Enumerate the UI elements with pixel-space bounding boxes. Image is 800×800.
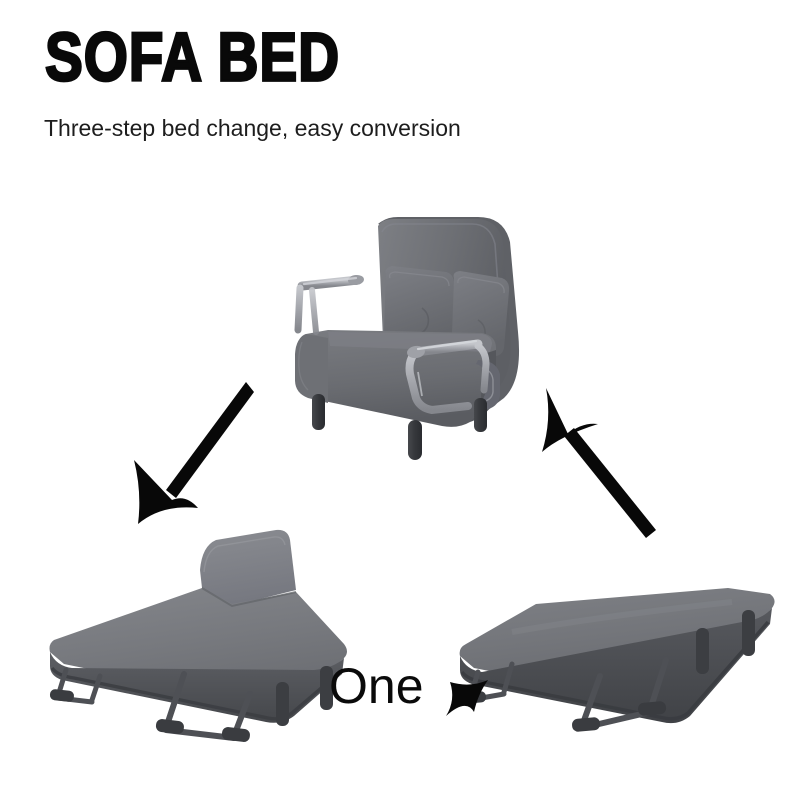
arrow-right-shaft bbox=[564, 428, 656, 538]
arrow-left-shaft bbox=[166, 382, 254, 498]
infographic-canvas: SOFA BED Three-step bed change, easy con… bbox=[0, 0, 800, 800]
sofa-armrest-left bbox=[298, 274, 364, 332]
bed-flat-foot-left bbox=[572, 717, 601, 732]
bed-reclined-foot-rear bbox=[49, 689, 74, 702]
bed-flat-foot-right bbox=[638, 701, 667, 716]
bed-reclined-foot-left bbox=[155, 718, 184, 734]
step-one-label: One bbox=[329, 659, 424, 713]
sofa-seat-roll bbox=[295, 334, 328, 403]
arrow-reclined-to-flat-bed bbox=[444, 668, 528, 730]
bed-reclined-foot-right bbox=[221, 726, 250, 742]
sofa-leg-front-right bbox=[408, 420, 422, 460]
sofa-leg-front-left bbox=[312, 394, 325, 430]
page-title: SOFA BED bbox=[45, 18, 340, 95]
page-subtitle: Three-step bed change, easy conversion bbox=[44, 114, 461, 142]
bed-flat-leg-rear-right bbox=[742, 610, 755, 656]
sofa-leg-back-right bbox=[474, 398, 487, 432]
bed-reclined-leg-middle bbox=[276, 682, 289, 726]
arrow-sofa-to-reclined-bed bbox=[128, 374, 260, 534]
arrow-small-head bbox=[446, 680, 488, 716]
arrow-flat-bed-to-sofa bbox=[524, 378, 664, 540]
sofa-upright-illustration bbox=[282, 212, 530, 450]
bed-flat-leg-middle bbox=[696, 628, 709, 674]
